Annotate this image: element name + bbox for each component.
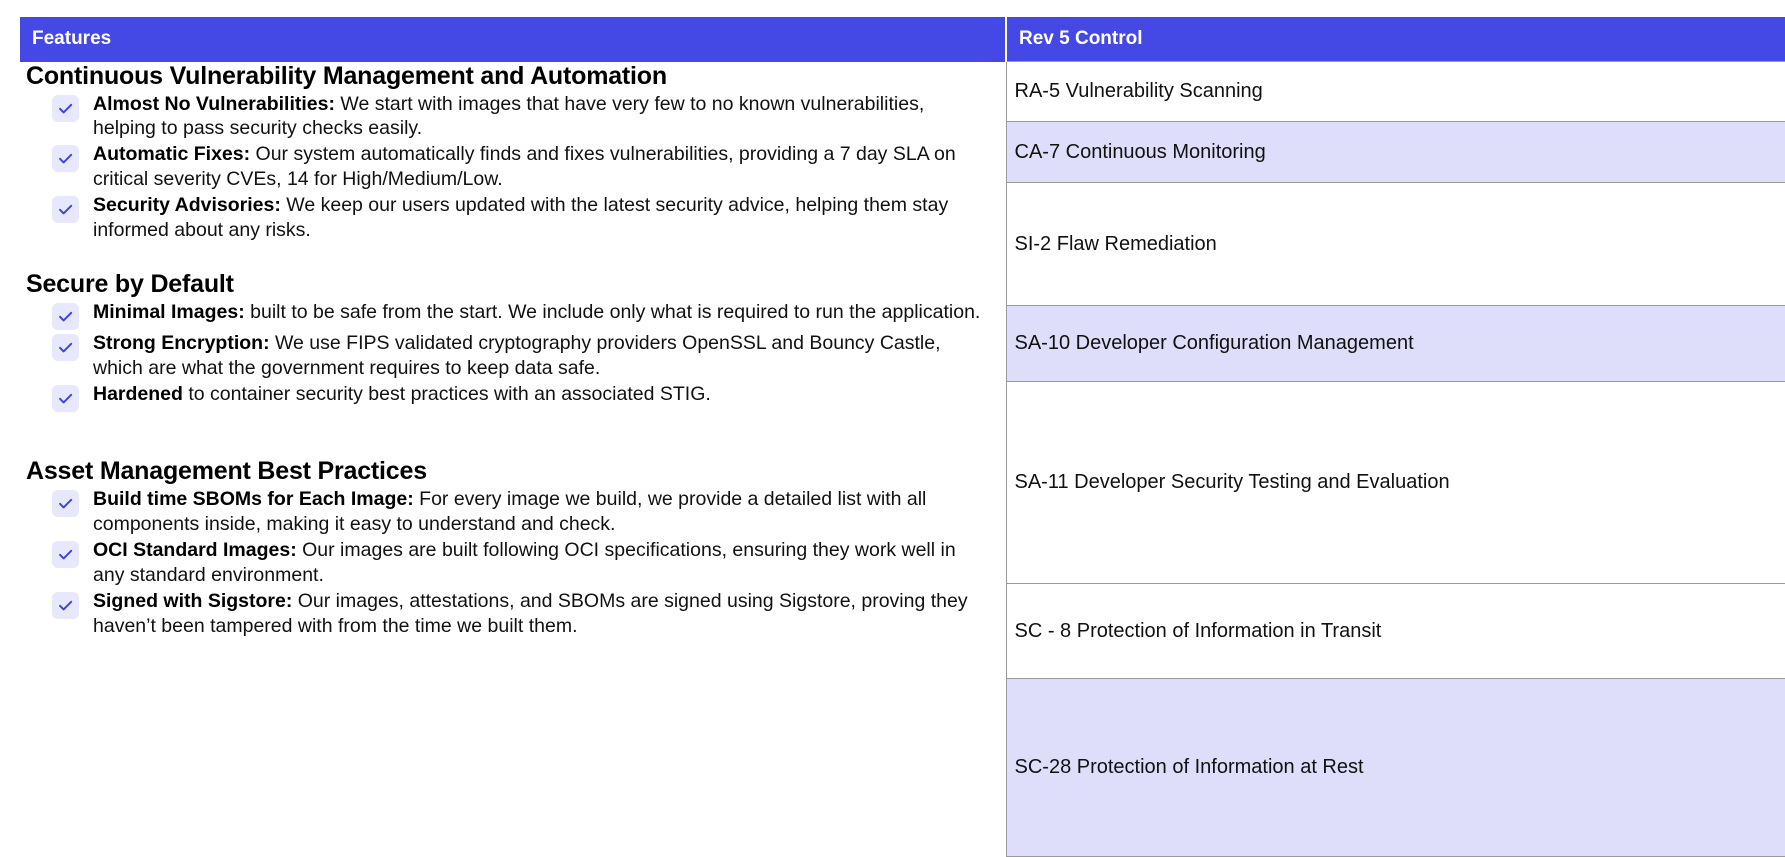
feature-bullet-text: Automatic Fixes: Our system automaticall… [93, 142, 992, 192]
feature-bullet-lead: Strong Encryption: [93, 332, 270, 354]
feature-bullet-text: Build time SBOMs for Each Image: For eve… [93, 487, 992, 537]
features-content: Continuous Vulnerability Management and … [26, 62, 992, 639]
feature-bullet-lead: Hardened [93, 383, 183, 405]
feature-bullet-text: Signed with Sigstore: Our images, attest… [93, 589, 992, 639]
group-spacer [26, 413, 992, 457]
check-icon [52, 592, 79, 619]
feature-bullet-text: Minimal Images: built to be safe from th… [93, 300, 992, 325]
check-icon [52, 145, 79, 172]
check-icon [52, 303, 79, 330]
group-spacer [26, 244, 992, 270]
features-cell: Continuous Vulnerability Management and … [20, 62, 1006, 857]
control-cell-5: SC - 8 Protection of Information in Tran… [1006, 584, 1785, 679]
feature-group-title: Continuous Vulnerability Management and … [26, 62, 992, 90]
column-header-features: Features [20, 17, 1006, 62]
check-icon [52, 196, 79, 223]
feature-bullet: Signed with Sigstore: Our images, attest… [26, 589, 992, 639]
control-cell-4: SA-11 Developer Security Testing and Eva… [1006, 382, 1785, 584]
feature-bullet-text: Hardened to container security best prac… [93, 382, 992, 407]
control-cell-6: SC-28 Protection of Information at Rest [1006, 679, 1785, 857]
feature-bullet-lead: OCI Standard Images: [93, 539, 297, 561]
feature-group-title: Secure by Default [26, 270, 992, 298]
feature-bullet-lead: Almost No Vulnerabilities: [93, 93, 335, 115]
check-icon [52, 334, 79, 361]
column-header-rev5-control: Rev 5 Control [1006, 17, 1785, 62]
feature-bullet-lead: Automatic Fixes: [93, 143, 250, 165]
feature-bullet-text: OCI Standard Images: Our images are buil… [93, 538, 992, 588]
control-cell-2: SI-2 Flaw Remediation [1006, 183, 1785, 306]
control-cell-1: CA-7 Continuous Monitoring [1006, 122, 1785, 183]
control-cell-3: SA-10 Developer Configuration Management [1006, 306, 1785, 382]
feature-bullet-list: Minimal Images: built to be safe from th… [26, 300, 992, 412]
feature-bullet-list: Build time SBOMs for Each Image: For eve… [26, 487, 992, 639]
check-icon [52, 490, 79, 517]
feature-bullet-text: Almost No Vulnerabilities: We start with… [93, 92, 992, 142]
feature-bullet-body: built to be safe from the start. We incl… [245, 301, 981, 323]
feature-group: Continuous Vulnerability Management and … [26, 62, 992, 244]
feature-group: Secure by DefaultMinimal Images: built t… [26, 270, 992, 412]
table-header: Features Rev 5 Control [20, 17, 1785, 62]
compliance-table: Features Rev 5 Control Continuous Vulner… [20, 17, 1785, 857]
feature-bullet: Security Advisories: We keep our users u… [26, 193, 992, 243]
feature-bullet-text: Security Advisories: We keep our users u… [93, 193, 992, 243]
header-row: Features Rev 5 Control [20, 17, 1785, 62]
check-icon [52, 385, 79, 412]
feature-bullet-body: to container security best practices wit… [183, 383, 711, 405]
feature-bullet: Hardened to container security best prac… [26, 382, 992, 412]
feature-bullet: OCI Standard Images: Our images are buil… [26, 538, 992, 588]
feature-bullet: Automatic Fixes: Our system automaticall… [26, 142, 992, 192]
feature-bullet-list: Almost No Vulnerabilities: We start with… [26, 92, 992, 244]
table-row: Continuous Vulnerability Management and … [20, 62, 1785, 122]
feature-bullet-lead: Signed with Sigstore: [93, 590, 292, 612]
feature-bullet: Build time SBOMs for Each Image: For eve… [26, 487, 992, 537]
control-cell-0: RA-5 Vulnerability Scanning [1006, 62, 1785, 122]
check-icon [52, 541, 79, 568]
compliance-table-container: Features Rev 5 Control Continuous Vulner… [20, 17, 1762, 857]
feature-bullet-lead: Security Advisories: [93, 194, 281, 216]
feature-bullet-text: Strong Encryption: We use FIPS validated… [93, 331, 992, 381]
table-body: Continuous Vulnerability Management and … [20, 62, 1785, 857]
feature-bullet: Almost No Vulnerabilities: We start with… [26, 92, 992, 142]
feature-bullet: Strong Encryption: We use FIPS validated… [26, 331, 992, 381]
feature-bullet: Minimal Images: built to be safe from th… [26, 300, 992, 330]
feature-group: Asset Management Best PracticesBuild tim… [26, 457, 992, 639]
feature-bullet-lead: Build time SBOMs for Each Image: [93, 488, 414, 510]
feature-bullet-lead: Minimal Images: [93, 301, 245, 323]
check-icon [52, 95, 79, 122]
feature-group-title: Asset Management Best Practices [26, 457, 992, 485]
